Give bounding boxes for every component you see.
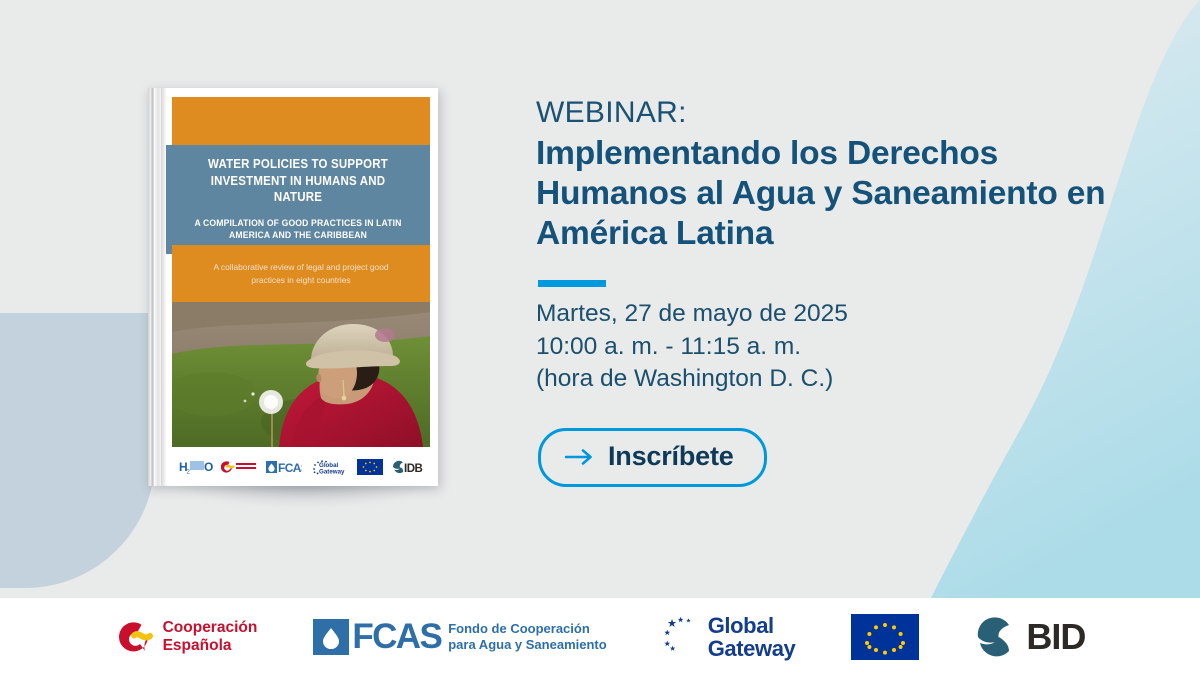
fcas-tagline-line1: Fondo de Cooperación [448, 621, 606, 637]
fcas-logo: FCAS [266, 460, 302, 474]
bid-wordmark: BID [1026, 616, 1085, 658]
accent-rule [538, 280, 606, 287]
fcas-wordmark: FCAS [352, 620, 441, 654]
book-description: A collaborative review of legal and proj… [172, 261, 430, 286]
svg-text:O: O [204, 460, 213, 474]
book-title: WATER POLICIES TO SUPPORT INVESTMENT IN … [188, 156, 409, 206]
global-gateway-line1: Global [708, 614, 796, 637]
left-rounded-shape [0, 313, 155, 588]
register-button-label: Inscríbete [608, 441, 734, 472]
book-cover: WATER POLICIES TO SUPPORT INVESTMENT IN … [148, 88, 438, 486]
bid-mark-icon [975, 617, 1023, 657]
european-union-flag [851, 614, 919, 660]
cooperacion-espanola-line1: Cooperación [163, 619, 258, 637]
bid-logo: BID [975, 616, 1085, 658]
svg-text:IDB: IDB [404, 463, 423, 474]
cover-top-band [172, 97, 430, 145]
webinar-promo-banner: WATER POLICIES TO SUPPORT INVESTMENT IN … [0, 0, 1200, 675]
global-gateway-logo: Global Gateway [663, 614, 796, 660]
webinar-timezone: (hora de Washington D. C.) [536, 363, 848, 396]
svg-text:FCAS: FCAS [278, 461, 302, 474]
svg-text:2: 2 [187, 470, 191, 475]
european-union-flag [357, 459, 383, 475]
book-subtitle: A COMPILATION OF GOOD PRACTICES IN LATIN… [188, 217, 409, 243]
webinar-kicker: WEBINAR: [536, 96, 687, 130]
cooperacion-espanola-logo: Cooperación Española [115, 617, 258, 657]
global-gateway-line2: Gateway [708, 637, 796, 660]
fcas-tagline-line2: para Agua y Saneamiento [448, 637, 606, 653]
partner-logo-footer: Cooperación Española FCAS Fondo de Coope… [0, 598, 1200, 675]
cooperacion-espanola-line2: Española [163, 637, 258, 655]
fcas-droplet-icon [313, 619, 349, 655]
register-button[interactable]: Inscríbete [538, 428, 767, 487]
webinar-schedule: Martes, 27 de mayo de 2025 10:00 a. m. -… [536, 298, 848, 396]
webinar-headline: Implementando los Derechos Humanos al Ag… [536, 134, 1148, 254]
webinar-date: Martes, 27 de mayo de 2025 [536, 298, 848, 331]
spanish-cooperation-logo [221, 460, 257, 474]
cover-title-band: WATER POLICIES TO SUPPORT INVESTMENT IN … [166, 145, 430, 254]
book-mockup: WATER POLICIES TO SUPPORT INVESTMENT IN … [148, 88, 448, 493]
arrow-right-icon [565, 447, 595, 467]
global-gateway-logo: Global Gateway [310, 459, 348, 475]
h2o-human-rights-logo: H 2 O [179, 459, 213, 474]
book-cover-logo-strip: H 2 O [172, 447, 430, 486]
cover-description-band: A collaborative review of legal and proj… [172, 245, 430, 302]
book-cover-face: WATER POLICIES TO SUPPORT INVESTMENT IN … [166, 88, 438, 486]
svg-text:Gateway: Gateway [319, 468, 345, 475]
fcas-logo: FCAS Fondo de Cooperación para Agua y Sa… [313, 619, 606, 655]
webinar-text-block: WEBINAR: Implementando los Derechos Huma… [536, 0, 1156, 600]
book-spine-pages [154, 88, 161, 486]
global-gateway-stars-icon [663, 616, 707, 658]
idb-logo: IDB [391, 460, 423, 474]
book-cover-photo [172, 302, 430, 447]
webinar-time: 10:00 a. m. - 11:15 a. m. [536, 331, 848, 364]
